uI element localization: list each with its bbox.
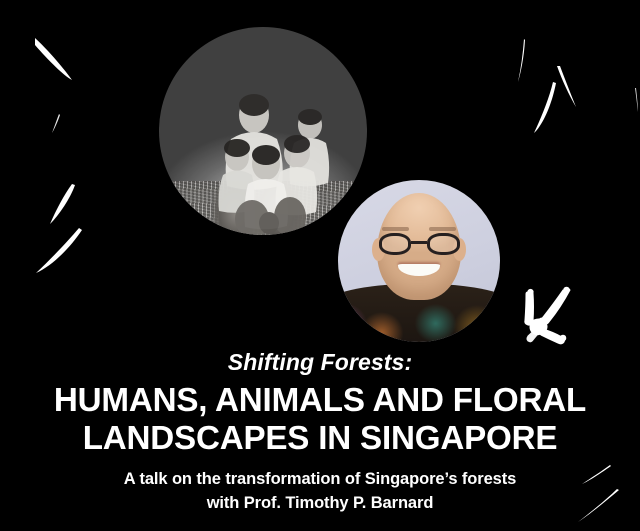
leaf-blade-icon <box>36 228 82 273</box>
page-title: HUMANS, ANIMALS AND FLORAL LANDSCAPES IN… <box>0 382 640 457</box>
glasses-bridge <box>411 241 427 244</box>
leaf-blade-icon <box>50 184 75 224</box>
archival-family-photo <box>159 27 367 235</box>
bone-hand-icon <box>525 287 570 344</box>
glasses-lens-left <box>379 233 411 254</box>
subtitle-line-1: A talk on the transformation of Singapor… <box>0 468 640 491</box>
eyebrow-title: Shifting Forests: <box>0 350 640 374</box>
leaf-blade-icon <box>52 114 60 133</box>
leaf-blade-icon <box>557 66 576 107</box>
leaf-blade-icon <box>35 38 72 80</box>
subtitle-line-2: with Prof. Timothy P. Barnard <box>0 492 640 515</box>
title-line-2: LANDSCAPES IN SINGAPORE <box>3 420 637 458</box>
portrait-brow-right <box>429 227 457 231</box>
leaf-blade-icon <box>534 82 556 133</box>
leaf-blade-icon <box>635 88 638 112</box>
glasses-lens-right <box>427 233 459 254</box>
title-line-1: HUMANS, ANIMALS AND FLORAL <box>3 382 637 420</box>
leaf-blade-icon <box>518 39 525 82</box>
speaker-headshot <box>338 180 500 342</box>
event-poster: Shifting Forests: HUMANS, ANIMALS AND FL… <box>0 0 640 531</box>
poster-text-block: Shifting Forests: HUMANS, ANIMALS AND FL… <box>0 340 640 515</box>
photo-figures <box>159 27 367 235</box>
glasses-icon <box>379 233 460 254</box>
portrait-brow-left <box>382 227 410 231</box>
subtitle: A talk on the transformation of Singapor… <box>0 468 640 515</box>
